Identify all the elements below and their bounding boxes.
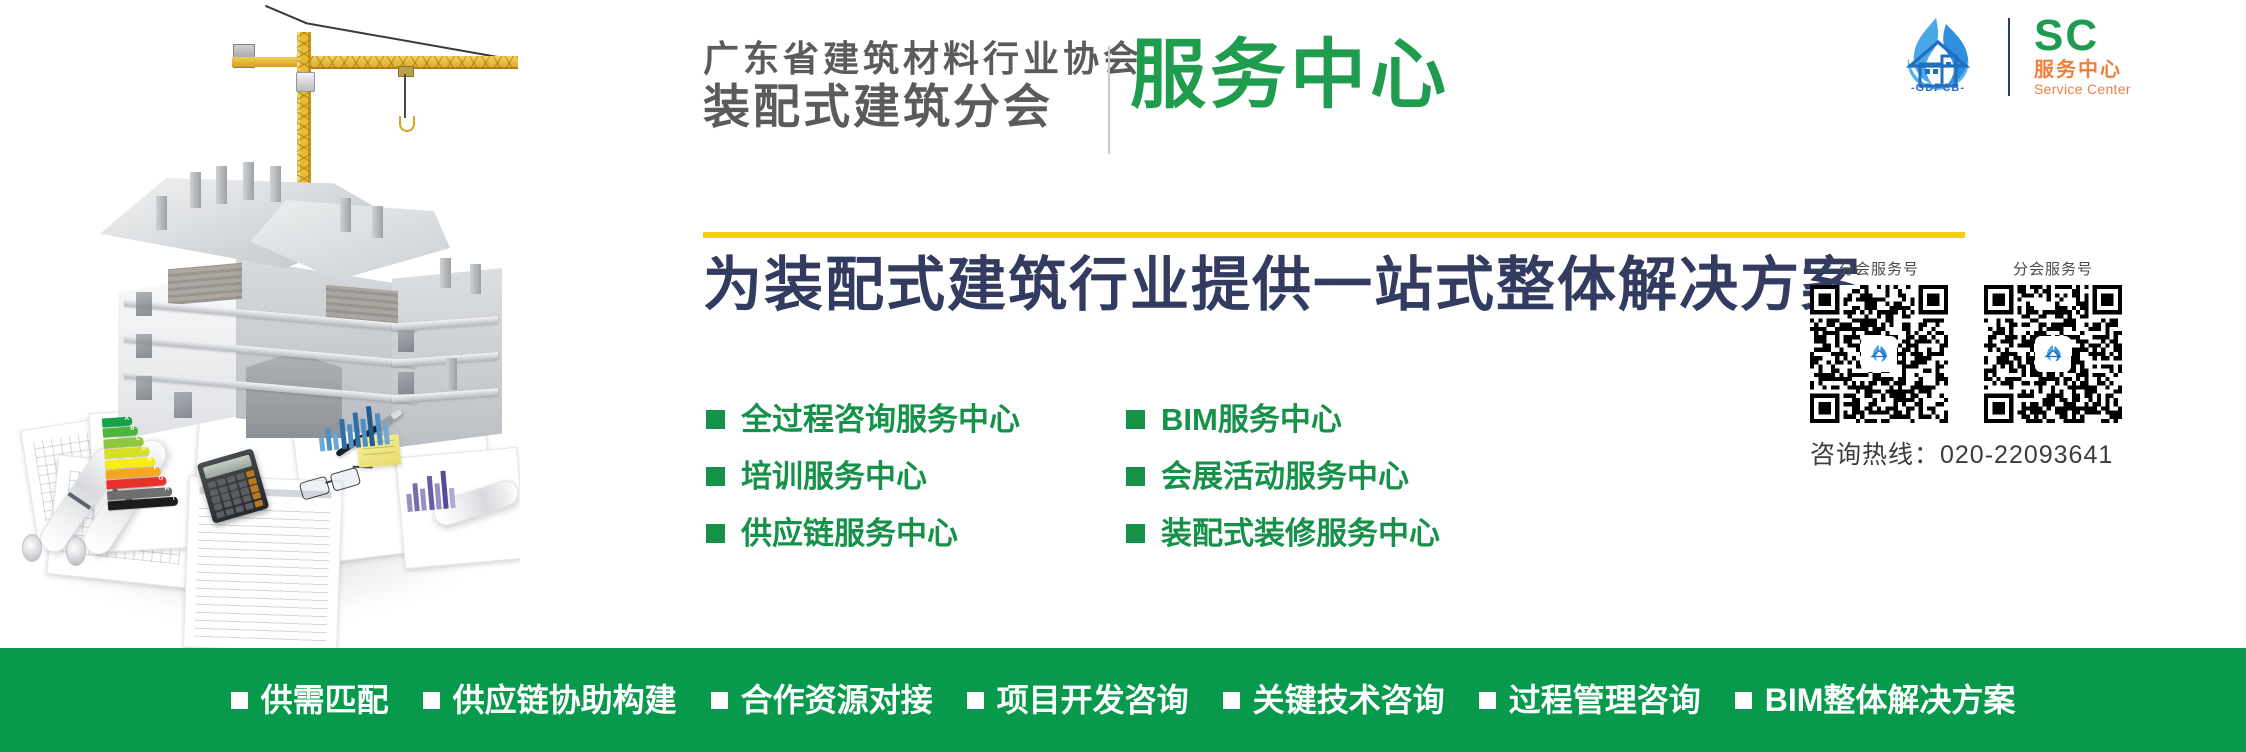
crane-counter-jib — [232, 57, 302, 67]
crane-tie-right — [305, 22, 507, 59]
service-item-label: 装配式装修服务中心 — [1161, 518, 1440, 549]
square-bullet-icon — [706, 467, 725, 486]
qr-caption: 分会服务号 — [1984, 258, 2122, 279]
banner-content: 广东省建筑材料行业协会 装配式建筑分会 服务中心 为装配式建筑行业提供一站式整体… — [520, 0, 2246, 650]
bottom-item-2[interactable]: 合作资源对接 — [711, 684, 933, 716]
construction-hero-image: ABCDEFGHI — [0, 0, 520, 650]
square-bullet-icon — [231, 692, 248, 709]
service-item-5[interactable]: 装配式装修服务中心 — [1126, 518, 1546, 549]
service-list: 全过程咨询服务中心 BIM服务中心 培训服务中心 会展活动服务中心 供应链服务中… — [706, 404, 1816, 549]
service-center-title: 服务中心 — [1130, 38, 1450, 114]
bottom-item-label: 供应链协助构建 — [453, 684, 677, 716]
square-bullet-icon — [1126, 524, 1145, 543]
logo-vertical-divider — [2008, 18, 2010, 96]
service-item-label: 全过程咨询服务中心 — [741, 404, 1020, 435]
bottom-item-4[interactable]: 关键技术咨询 — [1223, 684, 1445, 716]
bottom-feature-bar: 供需匹配 供应链协助构建 合作资源对接 项目开发咨询 关键技术咨询 过程管理咨询 — [0, 648, 2246, 752]
square-bullet-icon — [711, 692, 728, 709]
bottom-item-label: 项目开发咨询 — [997, 684, 1189, 716]
bottom-item-label: 供需匹配 — [261, 684, 389, 716]
service-item-2[interactable]: 培训服务中心 — [706, 461, 1126, 492]
brand-logo: -GDPCB- SC 服务中心 Service Center — [1886, 14, 2216, 98]
qr-contact-block: 分会服务号 分会服务号 — [1810, 258, 2240, 471]
crane-cable — [404, 74, 406, 118]
qr-caption: 分会服务号 — [1810, 258, 1948, 279]
crane-operator-cab — [296, 72, 315, 92]
qr-item: 分会服务号 — [1984, 258, 2122, 423]
association-name-line2: 装配式建筑分会 — [703, 82, 1053, 133]
square-bullet-icon — [1126, 410, 1145, 429]
bottom-item-label: 过程管理咨询 — [1509, 684, 1701, 716]
bottom-item-label: 关键技术咨询 — [1253, 684, 1445, 716]
qr-code-2[interactable] — [1984, 285, 2122, 423]
yellow-divider-rule — [703, 232, 1965, 238]
logo-mark-caption: -GDPCB- — [1886, 82, 1990, 94]
qr-code-1[interactable] — [1810, 285, 1948, 423]
crane-hook — [399, 116, 415, 132]
association-name-line1: 广东省建筑材料行业协会 — [703, 40, 1143, 79]
blue-bar-chart — [316, 402, 390, 451]
service-item-label: BIM服务中心 — [1161, 404, 1342, 435]
bottom-item-5[interactable]: 过程管理咨询 — [1479, 684, 1701, 716]
logo-chinese-text: 服务中心 — [2034, 60, 2122, 80]
square-bullet-icon — [1735, 692, 1752, 709]
qr-row: 分会服务号 分会服务号 — [1810, 258, 2240, 423]
promotional-banner: ABCDEFGHI — [0, 0, 2246, 752]
association-title-block: 广东省建筑材料行业协会 装配式建筑分会 — [703, 40, 1095, 133]
crane-trolley — [398, 66, 414, 77]
bottom-feature-list: 供需匹配 供应链协助构建 合作资源对接 项目开发咨询 关键技术咨询 过程管理咨询 — [231, 684, 2016, 716]
square-bullet-icon — [1479, 692, 1496, 709]
square-bullet-icon — [1126, 467, 1145, 486]
logo-sc-text: SC — [2034, 14, 2099, 58]
qr-center-logo-icon — [1863, 338, 1895, 370]
blueprint-roll-end — [66, 536, 86, 566]
building-brick-wall — [168, 263, 242, 305]
square-bullet-icon — [423, 692, 440, 709]
bottom-item-1[interactable]: 供应链协助构建 — [423, 684, 677, 716]
service-item-label: 培训服务中心 — [741, 461, 927, 492]
square-bullet-icon — [967, 692, 984, 709]
square-bullet-icon — [1223, 692, 1240, 709]
bottom-item-label: BIM整体解决方案 — [1765, 684, 2016, 716]
hero-scene: ABCDEFGHI — [0, 0, 520, 650]
crane-tie-left — [265, 5, 306, 24]
service-item-1[interactable]: BIM服务中心 — [1126, 404, 1546, 435]
energy-rating-chart: ABCDEFGHI — [102, 414, 180, 511]
blueprint-roll-end — [22, 534, 42, 562]
bottom-item-6[interactable]: BIM整体解决方案 — [1735, 684, 2016, 716]
qr-item: 分会服务号 — [1810, 258, 1948, 423]
main-headline: 为装配式建筑行业提供一站式整体解决方案 — [703, 252, 1862, 320]
logo-english-text: Service Center — [2034, 82, 2131, 96]
service-item-label: 会展活动服务中心 — [1161, 461, 1409, 492]
square-bullet-icon — [706, 410, 725, 429]
service-item-label: 供应链服务中心 — [741, 518, 958, 549]
service-item-0[interactable]: 全过程咨询服务中心 — [706, 404, 1126, 435]
bottom-item-3[interactable]: 项目开发咨询 — [967, 684, 1189, 716]
title-vertical-divider — [1108, 46, 1110, 154]
service-item-4[interactable]: 供应链服务中心 — [706, 518, 1126, 549]
bottom-item-label: 合作资源对接 — [741, 684, 933, 716]
service-item-3[interactable]: 会展活动服务中心 — [1126, 461, 1546, 492]
purple-bar-chart — [404, 468, 455, 512]
hotline-text: 咨询热线：020-22093641 — [1810, 435, 2240, 471]
square-bullet-icon — [706, 524, 725, 543]
qr-center-logo-icon — [2037, 338, 2069, 370]
bottom-item-0[interactable]: 供需匹配 — [231, 684, 389, 716]
